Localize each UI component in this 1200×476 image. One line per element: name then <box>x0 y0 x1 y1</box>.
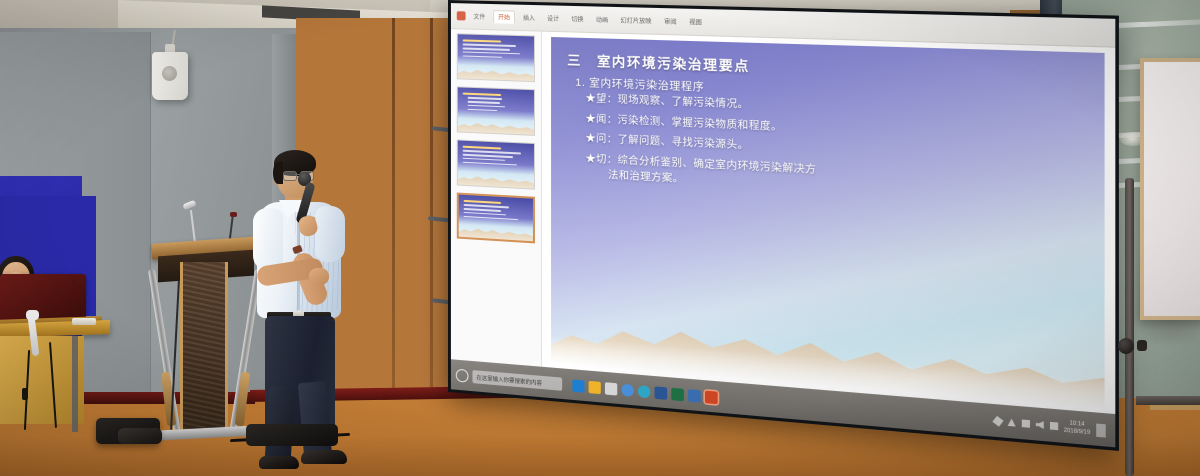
whiteboard-stand-post <box>1125 178 1134 476</box>
wood-panel-seam <box>430 18 433 438</box>
presenter <box>243 150 363 470</box>
ribbon-tab-transitions[interactable]: 切换 <box>567 13 587 25</box>
wall-speaker <box>152 52 188 100</box>
input-method-icon[interactable] <box>1050 422 1058 430</box>
current-slide[interactable]: 三 室内环境污染治理要点 1. 室内环境污染治理程序 ★望：现场观察、了解污染情… <box>551 37 1105 408</box>
whiteboard-tray <box>1136 396 1200 405</box>
presenter-sleeve-right <box>315 206 345 262</box>
projected-desktop: 文件 开始 插入 设计 切换 动画 幻灯片放映 审阅 视图 <box>451 3 1115 447</box>
taskbar-search-input[interactable]: 在这里输入你要搜索的内容 <box>472 370 562 391</box>
file-explorer-icon[interactable] <box>589 380 601 393</box>
slide-thumbnail[interactable] <box>457 86 535 136</box>
whiteboard-clamp[interactable] <box>1137 340 1147 351</box>
powerpoint-workspace: 三 室内环境污染治理要点 1. 室内环境污染治理程序 ★望：现场观察、了解污染情… <box>451 29 1115 414</box>
av-table-leg <box>72 336 78 432</box>
av-equipment-case-secondary <box>118 428 162 444</box>
taskbar-pinned-apps[interactable] <box>572 379 717 404</box>
ribbon-tab-review[interactable]: 审阅 <box>660 15 681 27</box>
clock-date: 2018/9/19 <box>1064 427 1090 436</box>
whiteboard-tray-wood <box>1150 405 1200 410</box>
ribbon-tab-slideshow[interactable]: 幻灯片放映 <box>616 14 655 26</box>
network-icon[interactable] <box>1022 419 1030 427</box>
wood-panel-seam <box>392 18 395 438</box>
remote-control[interactable] <box>72 318 96 325</box>
slide-bullet-list: ★望：现场观察、了解污染情况。 ★闻：污染检测、掌握污染物质和程度。 ★问：了解… <box>586 93 1091 215</box>
screen-frame: 文件 开始 插入 设计 切换 动画 幻灯片放映 审阅 视图 <box>448 0 1119 451</box>
excel-icon[interactable] <box>671 387 684 401</box>
speaker-cone <box>162 66 177 81</box>
media-icon[interactable] <box>638 384 650 397</box>
powerpoint-app-icon <box>457 11 466 20</box>
laptop-lid <box>0 274 86 322</box>
slide-thumbnail-selected[interactable] <box>457 192 535 243</box>
taskbar-clock[interactable]: 10:14 2018/9/19 <box>1064 420 1090 436</box>
presenter-shoe-left <box>259 456 299 469</box>
browser-icon[interactable] <box>688 389 701 403</box>
presenter-hand-left <box>309 268 329 285</box>
presenter-hair-side <box>273 162 283 184</box>
cable-inline-box <box>22 388 28 400</box>
ribbon-tab-home[interactable]: 开始 <box>493 10 515 24</box>
ribbon-tab-file[interactable]: 文件 <box>470 11 490 23</box>
store-icon[interactable] <box>605 382 617 395</box>
ribbon-tab-insert[interactable]: 插入 <box>519 12 539 24</box>
slide-thumbnail-pane[interactable] <box>451 29 542 367</box>
slide-thumbnail[interactable] <box>457 33 535 82</box>
whiteboard-height-knob[interactable] <box>1118 338 1134 354</box>
edge-icon[interactable] <box>572 379 584 392</box>
desk-lamp-head <box>26 310 39 320</box>
powerpoint-icon[interactable] <box>705 390 718 404</box>
start-button-icon[interactable] <box>456 369 469 383</box>
volume-icon[interactable] <box>1036 421 1044 429</box>
word-icon[interactable] <box>655 386 668 399</box>
pen-icon[interactable] <box>992 416 1003 427</box>
projection-screen[interactable]: 文件 开始 插入 设计 切换 动画 幻灯片放映 审阅 视图 <box>448 0 1119 451</box>
lecture-hall-photo: 文件 开始 插入 设计 切换 动画 幻灯片放映 审阅 视图 <box>0 0 1200 476</box>
podium-center-panel <box>180 262 228 434</box>
ribbon-tab-design[interactable]: 设计 <box>543 12 563 24</box>
presenter-shoe-right <box>301 450 347 464</box>
av-equipment-bag <box>246 424 338 446</box>
system-tray[interactable]: 10:14 2018/9/19 <box>994 414 1110 438</box>
show-desktop-button[interactable] <box>1096 423 1106 437</box>
slide-thumbnail[interactable] <box>457 139 535 189</box>
whiteboard-panel <box>1140 58 1200 320</box>
glasses-lens-left <box>283 171 297 181</box>
presenter-sleeve-left <box>253 208 283 270</box>
chrome-icon[interactable] <box>621 383 633 396</box>
slide-editing-area[interactable]: 三 室内环境污染治理要点 1. 室内环境污染治理程序 ★望：现场观察、了解污染情… <box>542 32 1115 414</box>
ribbon-tab-animations[interactable]: 动画 <box>592 14 613 26</box>
chevron-up-icon[interactable] <box>1008 418 1016 426</box>
ribbon-tab-view[interactable]: 视图 <box>685 16 706 28</box>
